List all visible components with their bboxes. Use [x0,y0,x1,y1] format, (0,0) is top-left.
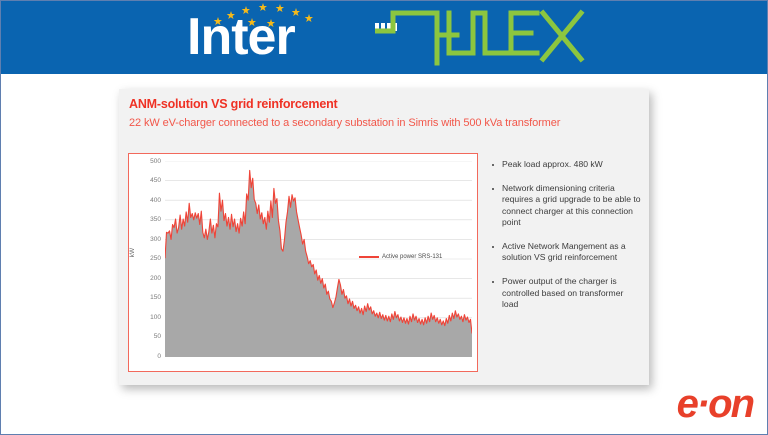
chart-y-tick: 500 [141,158,161,165]
chart-y-tick: 450 [141,177,161,184]
bullet-list: Peak load approx. 480 kW Network dimensi… [491,159,641,323]
logo-word-flex-icon [375,5,587,67]
list-item: Active Network Mangement as a solution V… [491,241,641,263]
slide-canvas: Inter [0,0,768,435]
chart-y-tick: 100 [141,314,161,321]
chart-y-tick: 150 [141,294,161,301]
bullet-items: Peak load approx. 480 kW Network dimensi… [491,159,641,310]
content-panel: ANM-solution VS grid reinforcement 22 kW… [119,89,649,385]
chart-y-tick: 350 [141,216,161,223]
chart-y-tick: 400 [141,197,161,204]
list-item: Peak load approx. 480 kW [491,159,641,170]
page-subtitle: 22 kW eV-charger connected to a secondar… [129,117,560,129]
page-title: ANM-solution VS grid reinforcement [129,97,338,111]
eon-logo: e·on [677,384,753,424]
list-item: Power output of the charger is controlle… [491,276,641,310]
chart-y-tick: 300 [141,236,161,243]
list-item: Network dimensioning criteria requires a… [491,183,641,228]
interflex-logo: Inter [187,3,587,71]
chart-container: kW 500450400350300250200150100500 Active… [128,153,478,372]
header-banner: Inter [1,1,768,74]
chart-legend: Active power SRS-131 [359,254,442,260]
legend-label: Active power SRS-131 [382,254,442,260]
chart-y-tick: 200 [141,275,161,282]
chart-y-tick: 0 [141,353,161,360]
logo-word-inter: Inter [187,11,295,63]
chart-y-tick: 250 [141,255,161,262]
chart-y-axis-title: kW [129,248,136,257]
chart-y-tick: 50 [141,333,161,340]
chart-y-axis-ticks: 500450400350300250200150100500 [139,154,161,371]
legend-swatch [359,256,379,258]
